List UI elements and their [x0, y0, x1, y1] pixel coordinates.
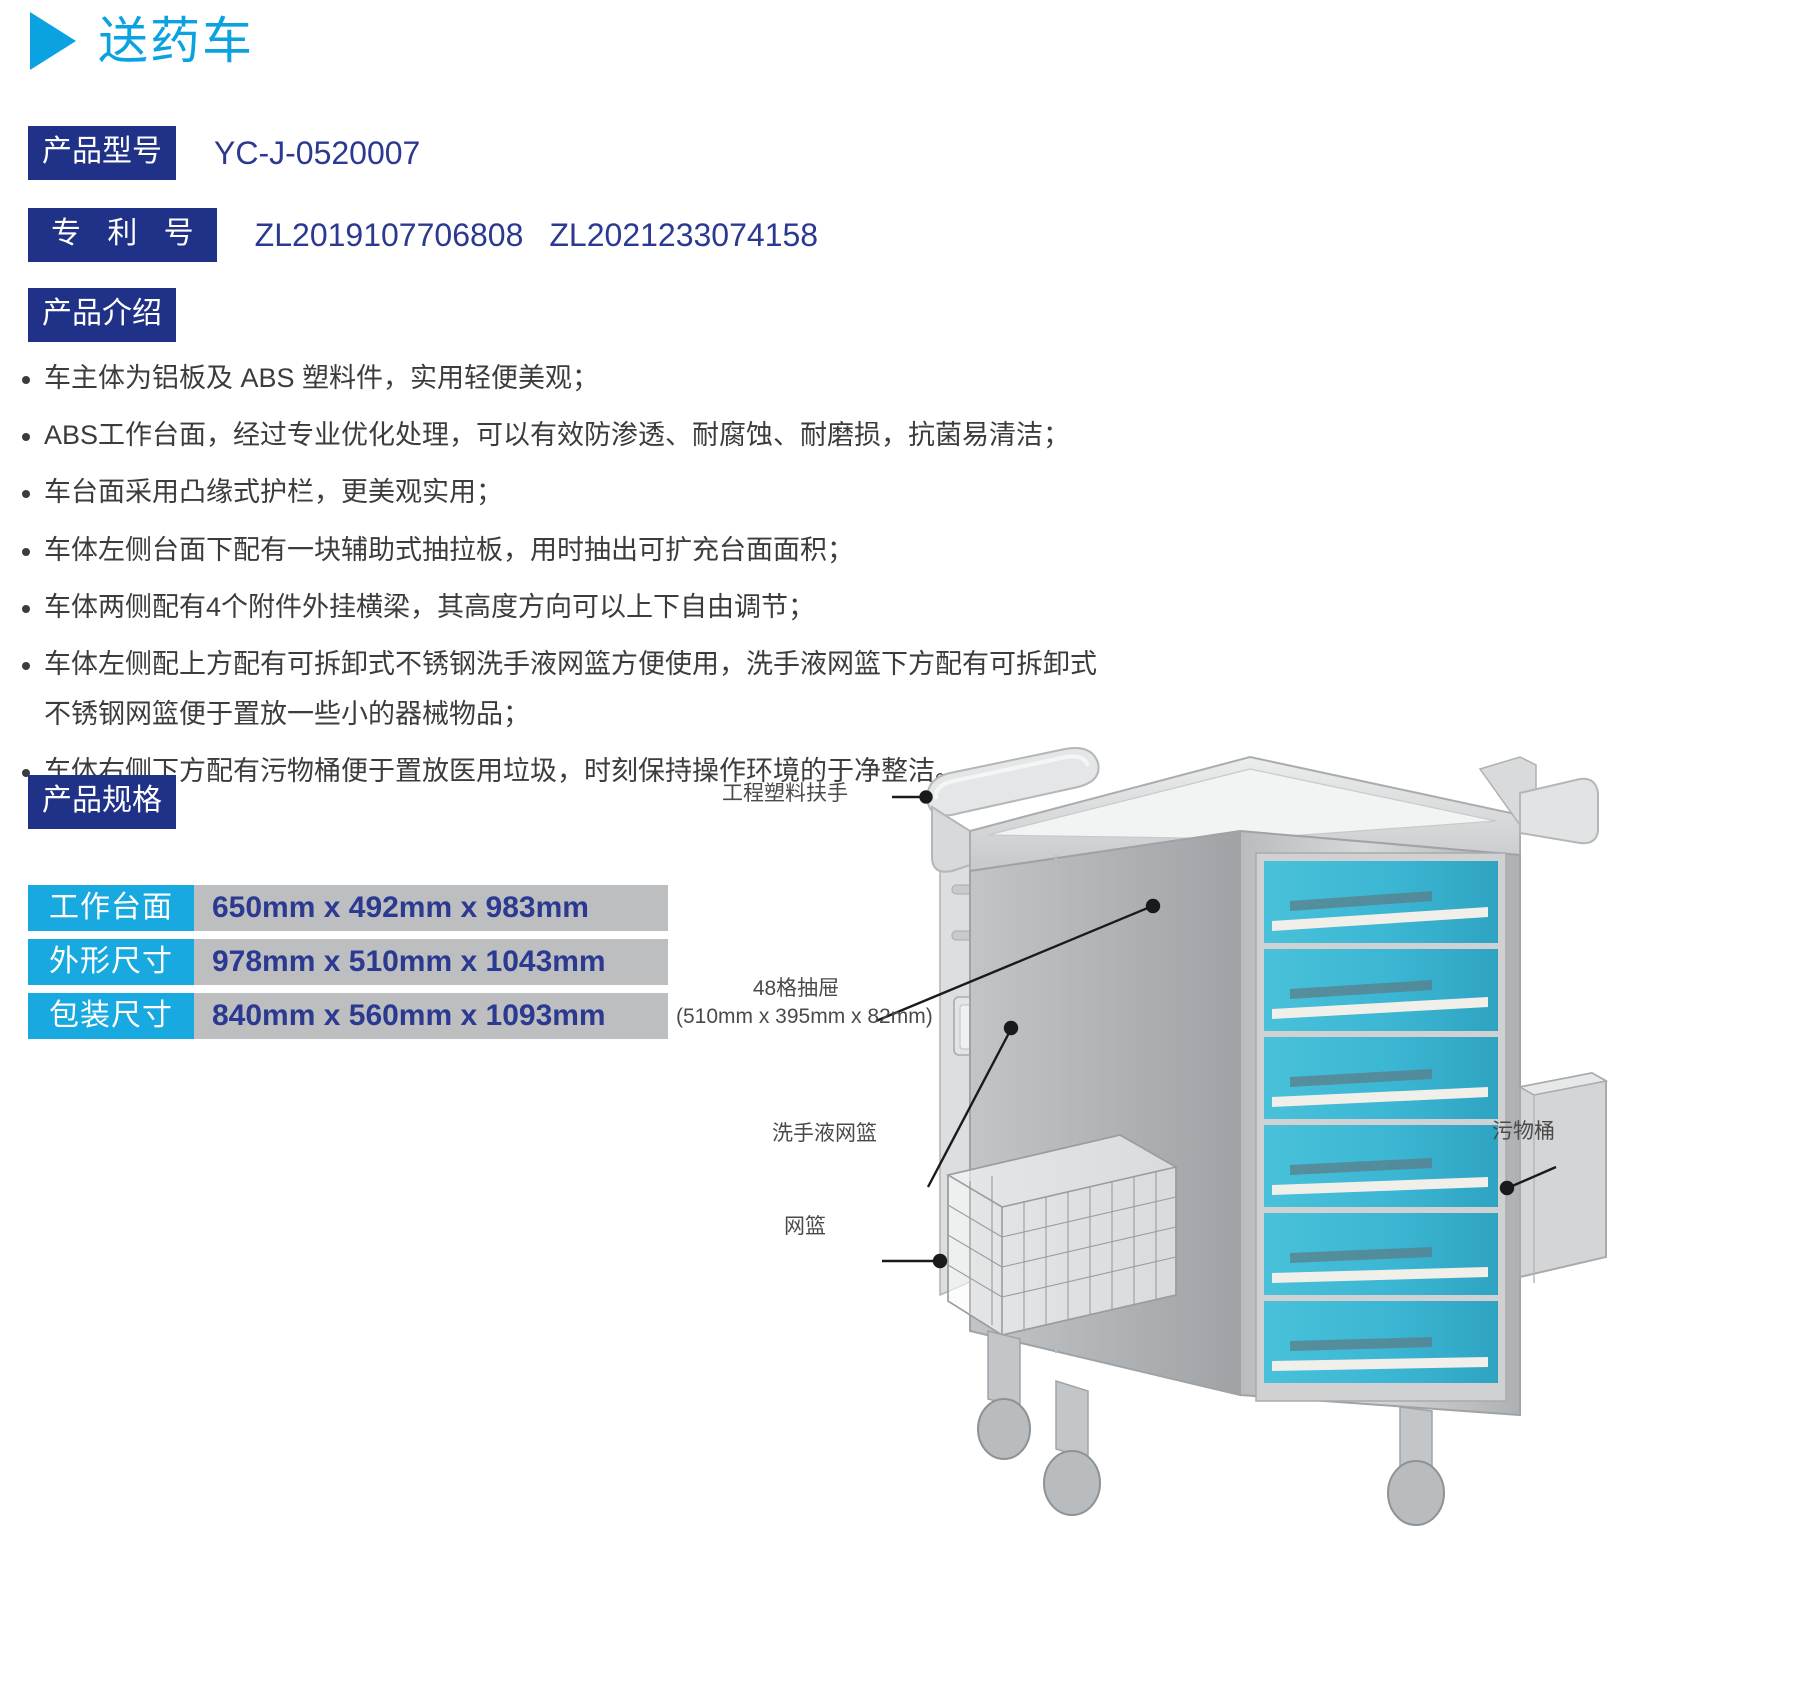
callout-soap-basket: 洗手液网篮 — [772, 1120, 877, 1148]
drawer[interactable] — [1264, 1213, 1498, 1295]
patent-values: ZL2019107706808ZL2021233074158 — [255, 217, 818, 254]
list-item-text: 车体两侧配有4个附件外挂横梁，其高度方向可以上下自由调节； — [44, 589, 1422, 625]
drawer[interactable] — [1264, 1301, 1498, 1383]
table-row: 工作台面 650mm x 492mm x 983mm — [28, 885, 668, 931]
callout-handle: 工程塑料扶手 — [722, 780, 848, 808]
bullet-dot-icon — [22, 605, 30, 613]
list-item-text: 车主体为铝板及 ABS 塑料件，实用轻便美观； — [44, 360, 1422, 396]
model-label-chip: 产品型号 — [28, 126, 176, 180]
bullet-dot-icon — [22, 548, 30, 556]
list-item-text: 车体左侧台面下配有一块辅助式抽拉板，用时抽出可扩充台面面积； — [44, 532, 1422, 568]
patent-label-chip: 专 利 号 — [28, 208, 217, 262]
table-row: 外形尺寸 978mm x 510mm x 1043mm — [28, 939, 668, 985]
list-item: 车台面采用凸缘式护栏，更美观实用； — [22, 474, 1422, 510]
list-item-text: ABS工作台面，经过专业优化处理，可以有效防渗透、耐腐蚀、耐磨损，抗菌易清洁； — [44, 417, 1422, 453]
drawer[interactable] — [1264, 1037, 1498, 1119]
bullet-dot-icon — [22, 433, 30, 441]
patent-value-2: ZL2021233074158 — [549, 217, 818, 253]
drawer[interactable] — [1264, 861, 1498, 943]
spec-key: 包装尺寸 — [28, 993, 194, 1039]
patent-value-1: ZL2019107706808 — [255, 217, 524, 253]
callout-drawer-title: 48格抽屉 — [676, 975, 916, 1003]
list-item-text: 车体左侧配上方配有可拆卸式不锈钢洗手液网篮方便使用，洗手液网篮下方配有可拆卸式 … — [44, 646, 1422, 732]
callout-drawer-size: (510mm x 395mm x 82mm) — [676, 1003, 916, 1031]
bullet-dot-icon — [22, 490, 30, 498]
callout-waste-bin: 污物桶 — [1492, 1118, 1555, 1146]
list-item-text: 车台面采用凸缘式护栏，更美观实用； — [44, 474, 1422, 510]
spec-heading-chip: 产品规格 — [28, 775, 176, 829]
spec-value: 650mm x 492mm x 983mm — [194, 885, 668, 931]
callout-wire-basket: 网篮 — [784, 1213, 826, 1241]
model-row: 产品型号 YC-J-0520007 — [28, 126, 420, 180]
drawer-stack — [1256, 853, 1506, 1401]
spec-key: 工作台面 — [28, 885, 194, 931]
table-row: 包装尺寸 840mm x 560mm x 1093mm — [28, 993, 668, 1039]
list-item: 车主体为铝板及 ABS 塑料件，实用轻便美观； — [22, 360, 1422, 396]
intro-heading: 产品介绍 — [28, 288, 176, 342]
product-illustration — [820, 735, 1790, 1690]
list-item: ABS工作台面，经过专业优化处理，可以有效防渗透、耐腐蚀、耐磨损，抗菌易清洁； — [22, 417, 1422, 453]
list-item-line-2: 不锈钢网篮便于置放一些小的器械物品； — [44, 696, 1422, 732]
spec-value: 840mm x 560mm x 1093mm — [194, 993, 668, 1039]
model-value: YC-J-0520007 — [214, 135, 420, 172]
play-triangle-icon — [30, 12, 76, 70]
bullet-dot-icon — [22, 662, 30, 670]
medicine-cart-image — [820, 735, 1790, 1690]
page-title: 送药车 — [30, 12, 254, 70]
list-item: 车体左侧配上方配有可拆卸式不锈钢洗手液网篮方便使用，洗手液网篮下方配有可拆卸式 … — [22, 646, 1422, 732]
drawer[interactable] — [1264, 949, 1498, 1031]
callout-drawer: 48格抽屉 (510mm x 395mm x 82mm) — [676, 975, 916, 1032]
list-item: 车体左侧台面下配有一块辅助式抽拉板，用时抽出可扩充台面面积； — [22, 532, 1422, 568]
product-spec-page: 送药车 产品型号 YC-J-0520007 专 利 号 ZL2019107706… — [0, 0, 1798, 1700]
patent-row: 专 利 号 ZL2019107706808ZL2021233074158 — [28, 208, 818, 262]
bullet-dot-icon — [22, 376, 30, 384]
page-title-text: 送药车 — [98, 16, 254, 66]
spec-heading: 产品规格 — [28, 775, 176, 829]
intro-heading-chip: 产品介绍 — [28, 288, 176, 342]
list-item-line-1: 车体左侧配上方配有可拆卸式不锈钢洗手液网篮方便使用，洗手液网篮下方配有可拆卸式 — [44, 649, 1097, 679]
list-item: 车体两侧配有4个附件外挂横梁，其高度方向可以上下自由调节； — [22, 589, 1422, 625]
spec-key: 外形尺寸 — [28, 939, 194, 985]
spec-value: 978mm x 510mm x 1043mm — [194, 939, 668, 985]
spec-table: 工作台面 650mm x 492mm x 983mm 外形尺寸 978mm x … — [28, 885, 668, 1047]
drawer[interactable] — [1264, 1125, 1498, 1207]
